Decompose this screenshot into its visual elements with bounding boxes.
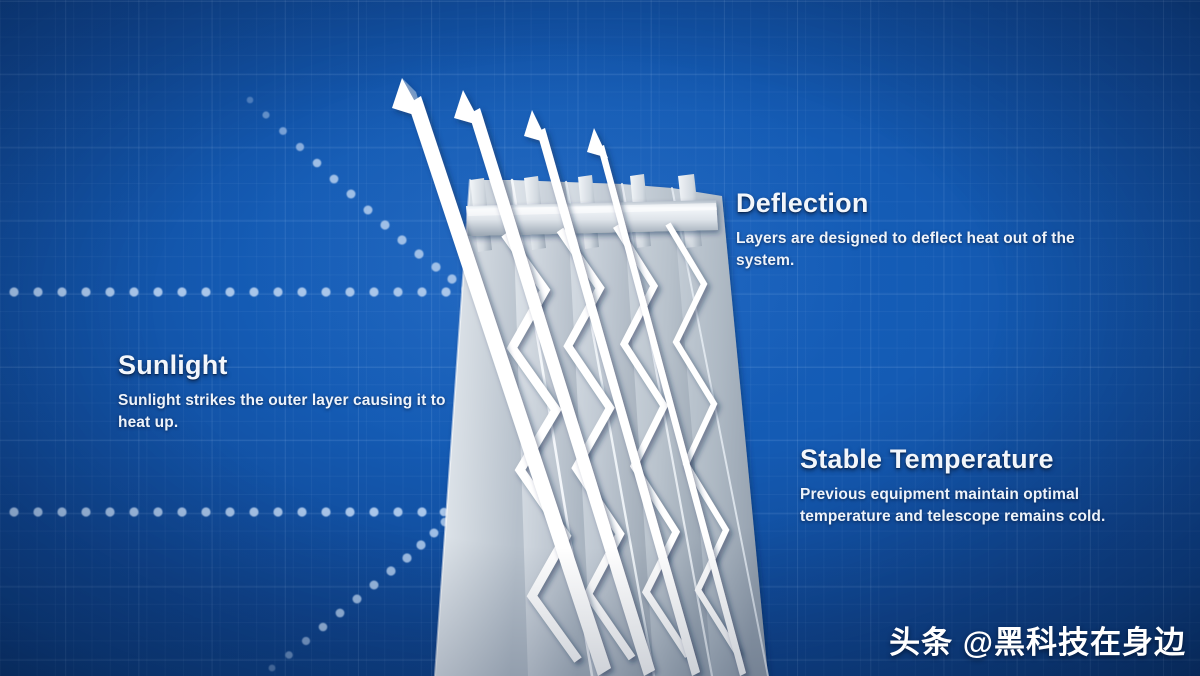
callout-stable-body: Previous equipment maintain optimal temp… — [800, 484, 1160, 529]
callout-deflection-heading: Deflection — [736, 188, 1106, 219]
sunshield-structure — [0, 0, 1200, 676]
callout-stable-heading: Stable Temperature — [800, 444, 1160, 475]
callout-deflection-body: Layers are designed to deflect heat out … — [736, 228, 1106, 273]
callout-deflection: Deflection Layers are designed to deflec… — [736, 188, 1106, 273]
callout-sunlight-heading: Sunlight — [118, 350, 448, 381]
watermark: 头条 @黑科技在身边 — [889, 617, 1186, 662]
infographic-canvas: Sunlight Sunlight strikes the outer laye… — [0, 0, 1200, 676]
callout-sunlight-body: Sunlight strikes the outer layer causing… — [118, 390, 448, 435]
callout-stable-temperature: Stable Temperature Previous equipment ma… — [800, 444, 1160, 529]
callout-sunlight: Sunlight Sunlight strikes the outer laye… — [118, 350, 448, 435]
